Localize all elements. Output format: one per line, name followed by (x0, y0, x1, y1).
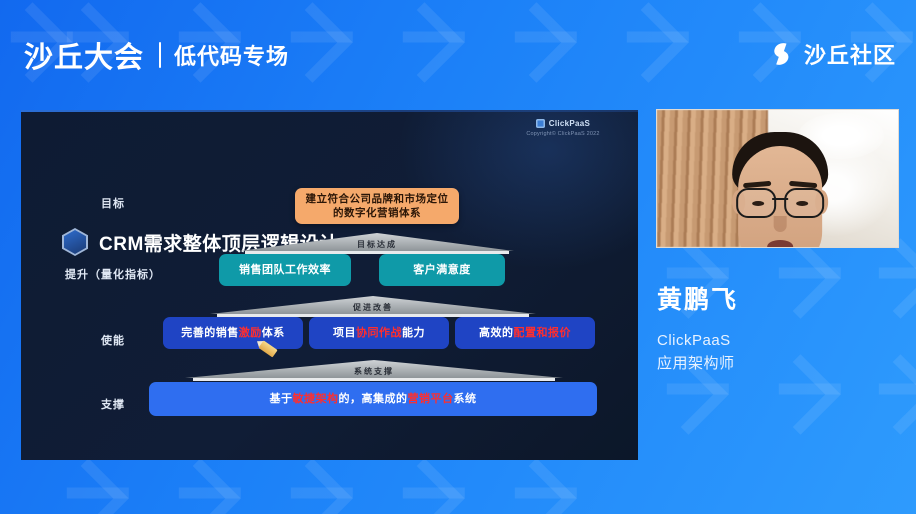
speaker-role: 应用架构师 (657, 353, 907, 376)
s-mark-icon (769, 41, 795, 67)
divider-label-3: 系统支撑 (185, 366, 563, 377)
brand-title: 沙丘大会 (24, 34, 144, 76)
goal-box-line1: 建立符合公司品牌和市场定位 (306, 192, 449, 206)
row-label-improve: 提升（量化指标） (51, 266, 175, 282)
enabler-box-1: 完善的销售激励体系 (163, 317, 303, 349)
enabler-1-post: 体系 (262, 326, 285, 341)
glasses-icon (734, 188, 826, 216)
enabler-1-highlight: 激励 (239, 326, 262, 341)
vendor-name: ClickPaaS (549, 119, 590, 128)
enabler-2-pre: 项目 (333, 326, 356, 341)
goal-box-line2: 的数字化营销体系 (333, 206, 421, 220)
foundation-post: 系统 (454, 392, 477, 407)
divider-system-support: 系统支撑 (185, 360, 563, 378)
enabler-box-2: 项目协同作战能力 (309, 317, 449, 349)
slide-canvas: CRM需求整体顶层逻辑设计 ClickPaaS Copyright© Click… (21, 110, 638, 460)
enabler-2-highlight: 协同作战 (356, 326, 402, 341)
vendor-logo: ClickPaaS Copyright© ClickPaaS 2022 (508, 119, 618, 137)
speaker-face (726, 132, 834, 248)
brand-subtitle: 低代码专场 (174, 39, 289, 71)
foundation-mid: 的，高集成的 (339, 392, 408, 407)
enabler-box-3: 高效的配置和报价 (455, 317, 595, 349)
divider-label-2: 促进改善 (210, 302, 536, 313)
community-logo-text: 沙丘社区 (804, 38, 896, 70)
speaker-info: 黄鹏飞 ClickPaaS 应用架构师 (657, 280, 907, 375)
enabler-3-pre: 高效的 (479, 326, 514, 341)
metric-box-1: 销售团队工作效率 (219, 254, 351, 286)
event-brand: 沙丘大会 低代码专场 (24, 34, 289, 76)
vendor-copyright: Copyright© ClickPaaS 2022 (508, 131, 618, 137)
foundation-box: 基于敏捷架构的，高集成的营销平台系统 (149, 382, 597, 416)
page-header: 沙丘大会 低代码专场 沙丘社区 (0, 0, 916, 104)
enabler-3-highlight: 配置和报价 (514, 326, 572, 341)
row-label-goal: 目标 (73, 195, 153, 211)
enabler-1-pre: 完善的销售 (181, 326, 239, 341)
community-logo: 沙丘社区 (769, 38, 896, 70)
row-label-enable: 使能 (73, 332, 153, 348)
foundation-highlight-2: 营销平台 (408, 392, 454, 407)
divider-label-1: 目标达成 (240, 239, 514, 250)
brand-divider (159, 42, 161, 68)
clickpaas-logo-icon (536, 119, 545, 128)
presentation-stage: 沙丘大会 低代码专场 沙丘社区 CRM需求整体顶层逻辑设计 ClickPaa (0, 0, 916, 514)
speaker-video (656, 109, 899, 248)
enabler-2-post: 能力 (402, 326, 425, 341)
divider-goal-achieve: 目标达成 (240, 233, 514, 251)
goal-box: 建立符合公司品牌和市场定位 的数字化营销体系 (295, 188, 459, 224)
speaker-company: ClickPaaS (657, 330, 907, 353)
speaker-name: 黄鹏飞 (657, 280, 907, 316)
divider-promote-improve: 促进改善 (210, 296, 536, 314)
foundation-highlight-1: 敏捷架构 (293, 392, 339, 407)
row-label-support: 支撑 (73, 396, 153, 412)
metric-box-2: 客户满意度 (379, 254, 505, 286)
hexagon-icon (62, 228, 88, 256)
foundation-pre: 基于 (270, 392, 293, 407)
